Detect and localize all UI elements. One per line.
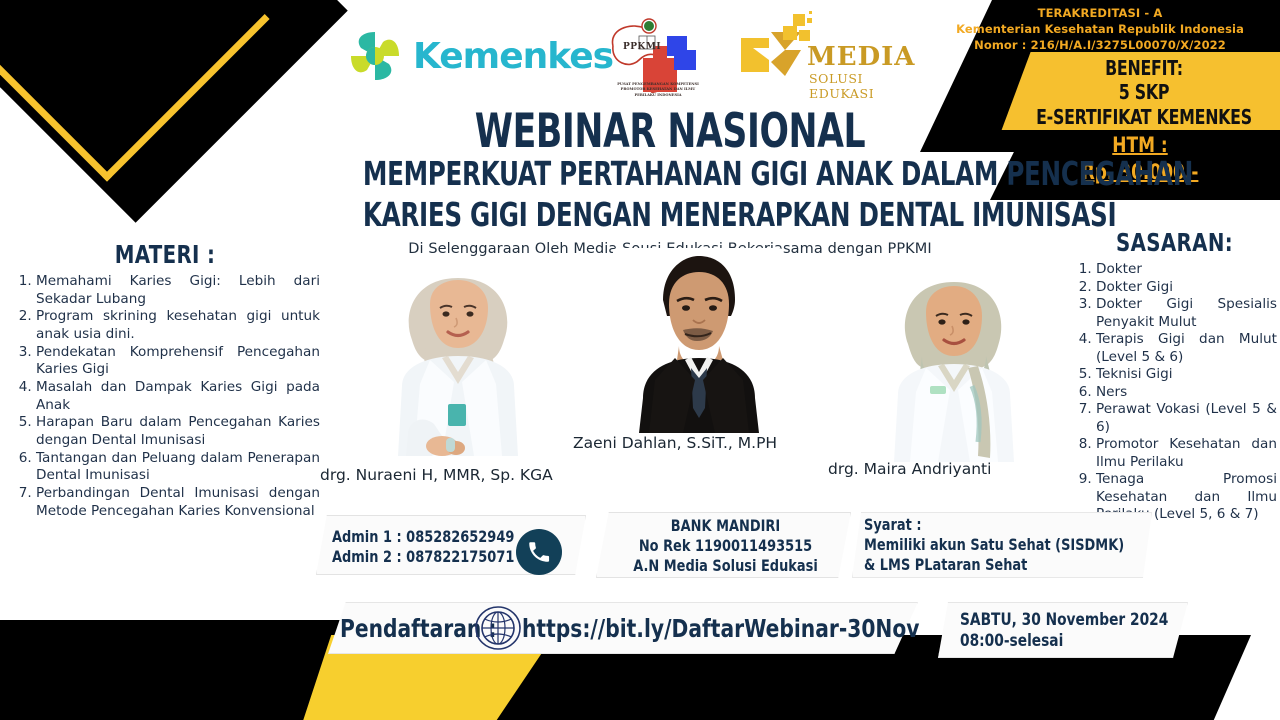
logo-row: Kemenkes PPKMI PUSAT PENGEMBANGAN KOMPET… <box>340 8 900 104</box>
sasaran-heading: SASARAN: <box>1084 228 1264 257</box>
speaker-photo-2 <box>613 248 783 433</box>
media-wordmark: MEDIA <box>807 42 915 72</box>
sasaran-section: SASARAN: Dokter Dokter Gigi Dokter Gigi … <box>1072 228 1277 524</box>
globe-icon <box>472 605 524 651</box>
speaker-photo-3 <box>860 266 1040 478</box>
ppkmi-subtext: PUSAT PENGEMBANGAN KOMPETENSI PROMOTOR K… <box>613 82 703 98</box>
admin-contact-ribbon: Admin 1 : 085282652949 Admin 2 : 0878221… <box>332 527 514 567</box>
speaker-name-1: drg. Nuraeni H, MMR, Sp. KGA <box>320 466 553 484</box>
benefit-banner: BENEFIT: 5 SKP E-SERTIFIKAT KEMENKES <box>1030 56 1259 129</box>
list-item: Terapis Gigi dan Mulut (Level 5 & 6) <box>1096 331 1277 366</box>
ppkmi-wordmark: PPKMI <box>623 42 661 52</box>
speaker-photo-1 <box>368 256 548 474</box>
bank-account-holder: A.N Media Solusi Edukasi <box>629 556 823 576</box>
materi-list: Memahami Karies Gigi: Lebih dari Sekadar… <box>10 273 320 520</box>
accreditation-line-2: Kementerian Kesehatan Republik Indonesia <box>920 22 1280 38</box>
speaker-name-2: Zaeni Dahlan, S.SiT., M.PH <box>573 434 777 452</box>
benefit-line-1: BENEFIT: <box>1030 56 1259 80</box>
kemenkes-flower-icon <box>345 26 405 86</box>
syarat-line-3: & LMS PLataran Sehat <box>864 555 1124 575</box>
list-item: Perbandingan Dental Imunisasi dengan Met… <box>36 485 320 520</box>
list-item: Tantangan dan Peluang dalam Penerapan De… <box>36 450 320 485</box>
list-item: Dokter Gigi <box>1096 279 1277 297</box>
list-item: Perawat Vokasi (Level 5 & 6) <box>1096 401 1277 436</box>
materi-heading: MATERI : <box>29 240 302 269</box>
syarat-label: Syarat : <box>864 515 1124 535</box>
list-item: Ners <box>1096 384 1277 402</box>
title-block: WEBINAR NASIONAL MEMPERKUAT PERTAHANAN G… <box>300 108 1040 257</box>
schedule-date: SABTU, 30 November 2024 <box>960 610 1168 631</box>
poster-canvas: TERAKREDITASI - A Kementerian Kesehatan … <box>0 0 1280 720</box>
bank-account-number: No Rek 1190011493515 <box>629 536 823 556</box>
list-item: Harapan Baru dalam Pencegahan Karies den… <box>36 414 320 449</box>
syarat-line-2: Memiliki akun Satu Sehat (SISDMK) <box>864 535 1124 555</box>
list-item: Dokter Gigi Spesialis Penyakit Mulut <box>1096 296 1277 331</box>
speakers-section: drg. Nuraeni H, MMR, Sp. KGA Zaeni Dahla… <box>320 248 1050 493</box>
webinar-title-main: WEBINAR NASIONAL <box>367 108 974 155</box>
list-item: Masalah dan Dampak Karies Gigi pada Anak <box>36 379 320 414</box>
syarat-ribbon: Syarat : Memiliki akun Satu Sehat (SISDM… <box>864 515 1124 575</box>
bank-ribbon: BANK MANDIRI No Rek 1190011493515 A.N Me… <box>629 516 823 576</box>
webinar-title-line-1: MEMPERKUAT PERTAHANAN GIGI ANAK DALAM PE… <box>363 155 977 194</box>
webinar-title-line-2: KARIES GIGI DENGAN MENERAPKAN DENTAL IMU… <box>363 196 977 235</box>
accreditation-line-3: Nomor : 216/H/A.I/3275L00070/X/2022 <box>920 38 1280 54</box>
registration-url[interactable]: https://bit.ly/DaftarWebinar-30Nov <box>522 613 919 644</box>
phone-glyph-icon <box>526 539 552 565</box>
list-item: Dokter <box>1096 261 1277 279</box>
accreditation-banner: TERAKREDITASI - A Kementerian Kesehatan … <box>920 6 1280 54</box>
benefit-line-2: 5 SKP <box>1030 80 1259 104</box>
list-item: Teknisi Gigi <box>1096 366 1277 384</box>
list-item: Promotor Kesehatan dan Ilmu Perilaku <box>1096 436 1277 471</box>
kemenkes-wordmark: Kemenkes <box>413 36 613 77</box>
admin-1-number[interactable]: Admin 1 : 085282652949 <box>332 527 514 547</box>
sasaran-list: Dokter Dokter Gigi Dokter Gigi Spesialis… <box>1072 261 1277 524</box>
kemenkes-logo: Kemenkes <box>345 26 613 86</box>
list-item: Memahami Karies Gigi: Lebih dari Sekadar… <box>36 273 320 308</box>
speaker-name-3: drg. Maira Andriyanti <box>828 460 991 478</box>
list-item: Program skrining kesehatan gigi untuk an… <box>36 308 320 343</box>
media-solusi-edukasi-logo: MEDIA SOLUSI EDUKASI <box>735 10 905 102</box>
list-item: Pendekatan Komprehensif Pencegahan Karie… <box>36 344 320 379</box>
bank-name: BANK MANDIRI <box>629 516 823 536</box>
benefit-line-3: E-SERTIFIKAT KEMENKES <box>1030 105 1259 129</box>
schedule-ribbon: SABTU, 30 November 2024 08:00-selesai <box>960 610 1168 653</box>
materi-section: MATERI : Memahami Karies Gigi: Lebih dar… <box>10 240 320 520</box>
accreditation-line-1: TERAKREDITASI - A <box>920 6 1280 22</box>
ppkmi-logo: PPKMI PUSAT PENGEMBANGAN KOMPETENSI PROM… <box>595 14 720 104</box>
admin-2-number[interactable]: Admin 2 : 087822175071 <box>332 547 514 567</box>
media-subtext: SOLUSI EDUKASI <box>809 71 905 101</box>
schedule-time: 08:00-selesai <box>960 631 1168 652</box>
phone-icon[interactable] <box>516 529 562 575</box>
